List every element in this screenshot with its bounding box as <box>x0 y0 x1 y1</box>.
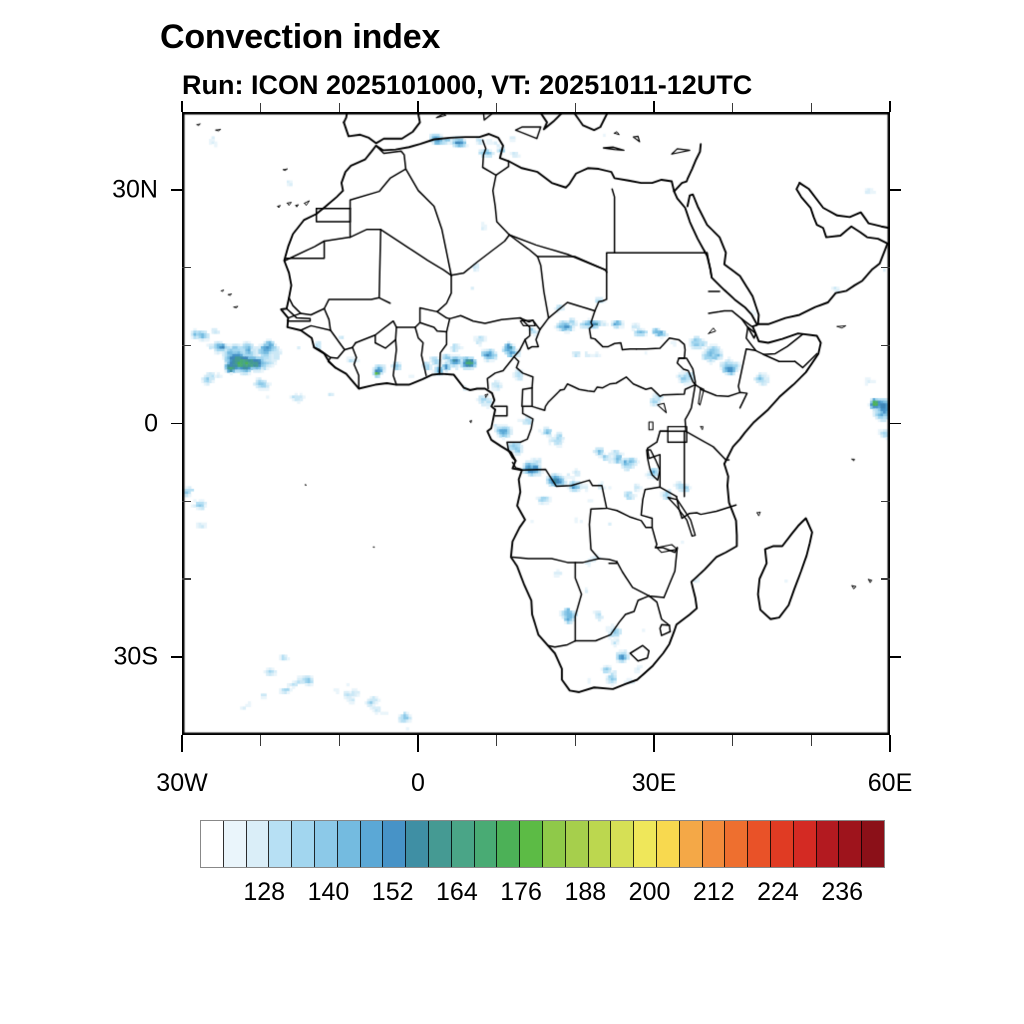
colorbar-cell-10 <box>429 821 452 867</box>
ytick-right-30 <box>890 189 901 191</box>
colorbar-cell-0 <box>201 821 224 867</box>
colorbar-cell-18 <box>611 821 634 867</box>
colorbar-label-188: 188 <box>564 878 606 907</box>
ytick-right--30 <box>890 656 901 658</box>
xtick-20 <box>575 735 576 746</box>
ytick-0 <box>171 423 182 425</box>
ytick-20 <box>182 267 191 268</box>
colorbar-cell-16 <box>566 821 589 867</box>
ytick-right-0 <box>890 423 901 425</box>
colorbar-label-140: 140 <box>308 878 350 907</box>
colorbar-cell-13 <box>497 821 520 867</box>
xtick-top-10 <box>496 103 497 112</box>
colorbar-cell-5 <box>315 821 338 867</box>
colorbar-cell-15 <box>543 821 566 867</box>
xtick--10 <box>339 735 340 746</box>
xtick-top-60 <box>889 101 891 112</box>
colorbar-cell-17 <box>589 821 612 867</box>
ytick-right--20 <box>881 578 890 579</box>
colorbar-label-236: 236 <box>821 878 863 907</box>
ytick--30 <box>171 656 182 658</box>
colorbar-cell-19 <box>634 821 657 867</box>
xtick-top-0 <box>417 101 419 112</box>
xtick-top-40 <box>732 103 733 112</box>
colorbar-cell-6 <box>338 821 361 867</box>
ytick-label-30S: 30S <box>0 643 158 672</box>
xtick-top-50 <box>811 103 812 112</box>
xtick-label-30W: 30W <box>156 769 207 798</box>
xtick-top-30 <box>653 101 655 112</box>
ytick-label-30N: 30N <box>0 175 158 204</box>
figure-root: Convection index Run: ICON 2025101000, V… <box>0 0 1024 1024</box>
xtick-top--10 <box>339 103 340 112</box>
colorbar-cell-14 <box>520 821 543 867</box>
colorbar-cell-4 <box>292 821 315 867</box>
ytick--10 <box>182 501 191 502</box>
xtick-label-60E: 60E <box>868 769 912 798</box>
colorbar-label-176: 176 <box>500 878 542 907</box>
colorbar-label-128: 128 <box>243 878 285 907</box>
colorbar-cell-7 <box>361 821 384 867</box>
colorbar-cell-20 <box>657 821 680 867</box>
colorbar-label-164: 164 <box>436 878 478 907</box>
colorbar-label-212: 212 <box>693 878 735 907</box>
colorbar-cell-27 <box>817 821 840 867</box>
xtick-10 <box>496 735 497 746</box>
xtick--20 <box>260 735 261 746</box>
colorbar-cell-29 <box>862 821 884 867</box>
xtick-0 <box>417 735 419 752</box>
xtick-30 <box>653 735 655 752</box>
ytick-10 <box>182 345 191 346</box>
colorbar-label-224: 224 <box>757 878 799 907</box>
colorbar[interactable] <box>200 820 885 868</box>
colorbar-cell-1 <box>224 821 247 867</box>
run-validtime-subtitle: Run: ICON 2025101000, VT: 20251011-12UTC <box>182 70 752 101</box>
colorbar-cell-22 <box>703 821 726 867</box>
ytick-label-0: 0 <box>0 409 158 438</box>
colorbar-cell-28 <box>839 821 862 867</box>
colorbar-cell-26 <box>794 821 817 867</box>
xtick-40 <box>732 735 733 746</box>
colorbar-cell-23 <box>725 821 748 867</box>
colorbar-label-200: 200 <box>629 878 671 907</box>
colorbar-gradient <box>200 820 885 868</box>
colorbar-cell-12 <box>475 821 498 867</box>
ytick--20 <box>182 578 191 579</box>
colorbar-cell-25 <box>771 821 794 867</box>
convection-index-map <box>183 113 889 734</box>
colorbar-cell-9 <box>406 821 429 867</box>
xtick-top-20 <box>575 103 576 112</box>
xtick-60 <box>889 735 891 752</box>
xtick-top--20 <box>260 103 261 112</box>
colorbar-cell-8 <box>383 821 406 867</box>
ytick-30 <box>171 189 182 191</box>
colorbar-label-152: 152 <box>372 878 414 907</box>
colorbar-cell-21 <box>680 821 703 867</box>
ytick-right--10 <box>881 501 890 502</box>
xtick-label-0: 0 <box>411 769 425 798</box>
xtick-50 <box>811 735 812 746</box>
colorbar-cell-2 <box>247 821 270 867</box>
xtick-top--30 <box>181 101 183 112</box>
colorbar-cell-11 <box>452 821 475 867</box>
xtick-label-30E: 30E <box>632 769 676 798</box>
map-plot-area[interactable] <box>182 112 890 735</box>
ytick-right-10 <box>881 345 890 346</box>
colorbar-cell-3 <box>269 821 292 867</box>
colorbar-cell-24 <box>748 821 771 867</box>
xtick--30 <box>181 735 183 752</box>
ytick-right-20 <box>881 267 890 268</box>
page-title: Convection index <box>160 18 440 57</box>
